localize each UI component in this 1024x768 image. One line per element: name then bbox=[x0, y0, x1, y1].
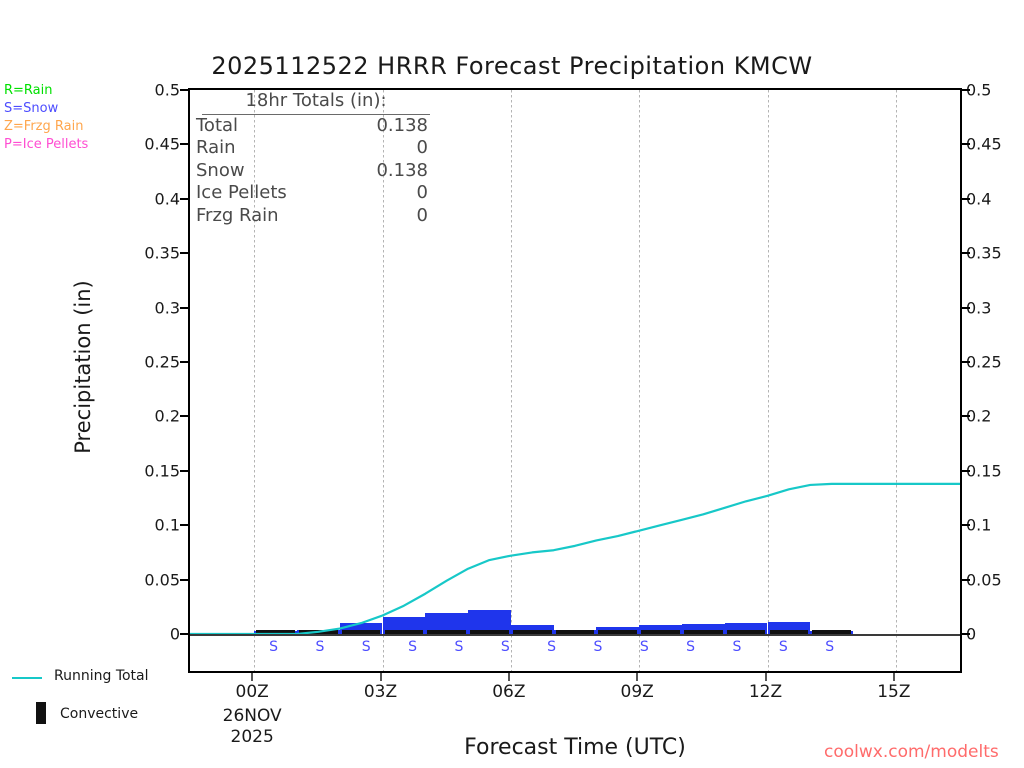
y-tick-mark bbox=[180, 470, 188, 472]
totals-row-value: 0 bbox=[417, 205, 428, 228]
y-tick-mark bbox=[962, 252, 970, 254]
y-tick-label: 0.15 bbox=[966, 461, 1002, 480]
y-tick-label: 0.35 bbox=[966, 244, 1002, 263]
y-tick-label: 0.05 bbox=[966, 570, 1002, 589]
ptype-marker: S bbox=[825, 639, 834, 655]
y-tick-label: 0.5 bbox=[155, 81, 180, 100]
legend-running-total: Running Total bbox=[12, 668, 182, 688]
y-tick-mark bbox=[180, 143, 188, 145]
y-tick-mark bbox=[180, 579, 188, 581]
ptype-marker: S bbox=[594, 639, 603, 655]
ptype-marker: S bbox=[547, 639, 556, 655]
y-tick-mark bbox=[180, 361, 188, 363]
y-tick-mark bbox=[962, 307, 970, 309]
x-tick-label: 03Z bbox=[364, 682, 397, 702]
y-tick-mark bbox=[180, 198, 188, 200]
y-tick-label: 0.4 bbox=[155, 189, 180, 208]
y-tick-mark bbox=[962, 143, 970, 145]
totals-row-label: Ice Pellets bbox=[196, 182, 287, 205]
x-axis-ticks bbox=[188, 673, 962, 681]
totals-row: Frzg Rain0 bbox=[196, 205, 428, 228]
totals-rows: Total0.138Rain0Snow0.138Ice Pellets0Frzg… bbox=[196, 115, 446, 228]
ptype-marker: S bbox=[315, 639, 324, 655]
ptype-marker: S bbox=[733, 639, 742, 655]
y-tick-label: 0.05 bbox=[144, 570, 180, 589]
ptype-marker: S bbox=[640, 639, 649, 655]
y-tick-label: 0.25 bbox=[966, 353, 1002, 372]
x-tick-label: 09Z bbox=[621, 682, 654, 702]
y-axis-labels-left: 00.050.10.150.20.250.30.350.40.450.5 bbox=[120, 88, 180, 634]
y-tick-mark bbox=[180, 89, 188, 91]
y-tick-mark bbox=[962, 470, 970, 472]
y-axis-title: Precipitation (in) bbox=[71, 257, 95, 477]
totals-row-value: 0.138 bbox=[376, 115, 428, 138]
ptype-marker: S bbox=[454, 639, 463, 655]
ptype-marker: S bbox=[779, 639, 788, 655]
ptype-marker: S bbox=[408, 639, 417, 655]
y-tick-mark bbox=[180, 633, 188, 635]
y-tick-label: 0.2 bbox=[155, 407, 180, 426]
convective-bar-swatch bbox=[36, 702, 46, 724]
y-axis-labels-right: 00.050.10.150.20.250.30.350.40.450.5 bbox=[966, 88, 1024, 634]
precip-type-markers: SSSSSSSSSSSSS bbox=[188, 639, 962, 659]
x-tick-label: 12Z bbox=[749, 682, 782, 702]
y-tick-mark bbox=[962, 633, 970, 635]
totals-row: Snow0.138 bbox=[196, 160, 428, 183]
y-tick-mark bbox=[180, 252, 188, 254]
x-tick-mark bbox=[508, 673, 510, 681]
totals-row: Total0.138 bbox=[196, 115, 428, 138]
y-tick-label: 0.3 bbox=[155, 298, 180, 317]
y-tick-mark bbox=[962, 198, 970, 200]
legend-convective: Convective bbox=[12, 702, 182, 726]
x-tick-label: 15Z bbox=[877, 682, 910, 702]
x-tick-mark bbox=[765, 673, 767, 681]
x-tick-mark bbox=[251, 673, 253, 681]
totals-heading: 18hr Totals (in): bbox=[202, 90, 430, 115]
totals-row-value: 0 bbox=[417, 137, 428, 160]
running-total-line-swatch bbox=[12, 677, 42, 679]
y-tick-mark bbox=[962, 361, 970, 363]
totals-row-value: 0.138 bbox=[376, 160, 428, 183]
y-tick-label: 0.15 bbox=[144, 461, 180, 480]
y-tick-label: 0.45 bbox=[144, 135, 180, 154]
x-tick-label: 06Z bbox=[492, 682, 525, 702]
y-tick-mark bbox=[962, 524, 970, 526]
legend-running-total-label: Running Total bbox=[54, 668, 149, 684]
x-tick-mark bbox=[893, 673, 895, 681]
y-axis-ticks-right bbox=[962, 88, 970, 634]
y-tick-mark bbox=[180, 415, 188, 417]
totals-row-label: Frzg Rain bbox=[196, 205, 279, 228]
x-tick-mark bbox=[636, 673, 638, 681]
y-tick-label: 0.1 bbox=[155, 516, 180, 535]
y-tick-label: 0 bbox=[170, 625, 180, 644]
ptype-marker: S bbox=[362, 639, 371, 655]
legend-convective-label: Convective bbox=[60, 706, 138, 722]
y-tick-mark bbox=[962, 415, 970, 417]
x-axis-date-line1: 26NOV bbox=[223, 706, 282, 727]
x-tick-mark bbox=[380, 673, 382, 681]
y-axis-ticks-left bbox=[180, 88, 188, 634]
ptype-marker: S bbox=[501, 639, 510, 655]
watermark: coolwx.com/modelts bbox=[824, 742, 999, 762]
ptype-marker: S bbox=[269, 639, 278, 655]
y-tick-label: 0.45 bbox=[966, 135, 1002, 154]
totals-row-label: Rain bbox=[196, 137, 236, 160]
y-tick-mark bbox=[180, 524, 188, 526]
y-tick-mark bbox=[180, 307, 188, 309]
zero-baseline bbox=[190, 634, 960, 636]
y-tick-label: 0.25 bbox=[144, 353, 180, 372]
totals-row: Rain0 bbox=[196, 137, 428, 160]
totals-row-label: Total bbox=[196, 115, 238, 138]
x-tick-label: 00Z bbox=[236, 682, 269, 702]
x-axis-labels: 00Z03Z06Z09Z12Z15Z bbox=[188, 682, 962, 706]
page-title: 2025112522 HRRR Forecast Precipitation K… bbox=[0, 52, 1024, 80]
totals-row: Ice Pellets0 bbox=[196, 182, 428, 205]
ptype-marker: S bbox=[686, 639, 695, 655]
totals-row-label: Snow bbox=[196, 160, 245, 183]
y-tick-mark bbox=[962, 579, 970, 581]
y-tick-mark bbox=[962, 89, 970, 91]
y-tick-label: 0.35 bbox=[144, 244, 180, 263]
totals-row-value: 0 bbox=[417, 182, 428, 205]
totals-box: 18hr Totals (in): Total0.138Rain0Snow0.1… bbox=[196, 90, 446, 227]
